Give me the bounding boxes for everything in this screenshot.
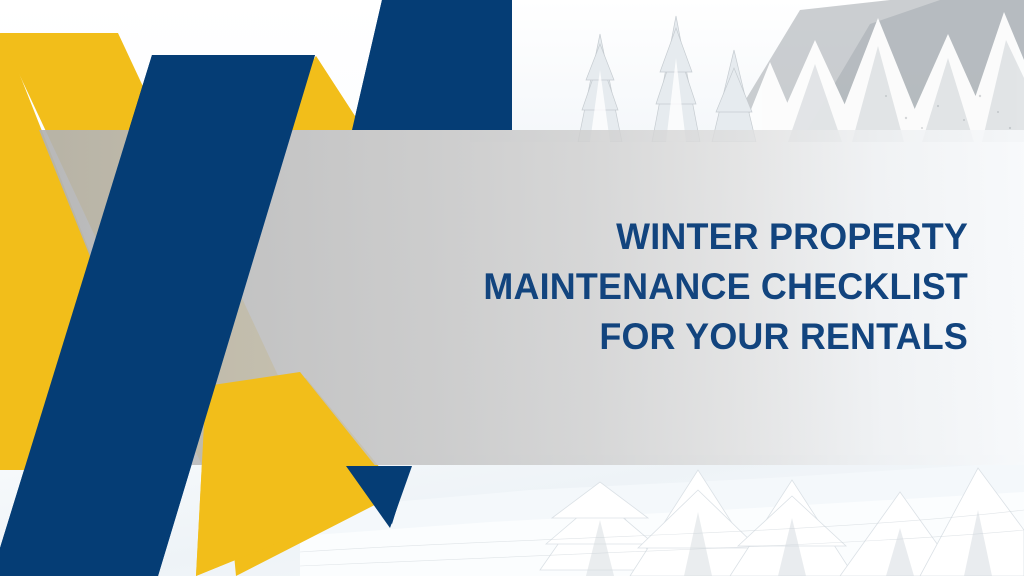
title-line-1: WINTER PROPERTY bbox=[367, 212, 968, 262]
title-line-3: FOR YOUR RENTALS bbox=[367, 312, 968, 362]
page-title: WINTER PROPERTY MAINTENANCE CHECKLIST FO… bbox=[367, 212, 968, 362]
title-line-2: MAINTENANCE CHECKLIST bbox=[367, 262, 968, 312]
slide-canvas: WINTER PROPERTY MAINTENANCE CHECKLIST FO… bbox=[0, 0, 1024, 576]
shape-navy-top-right-fg bbox=[352, 0, 512, 130]
